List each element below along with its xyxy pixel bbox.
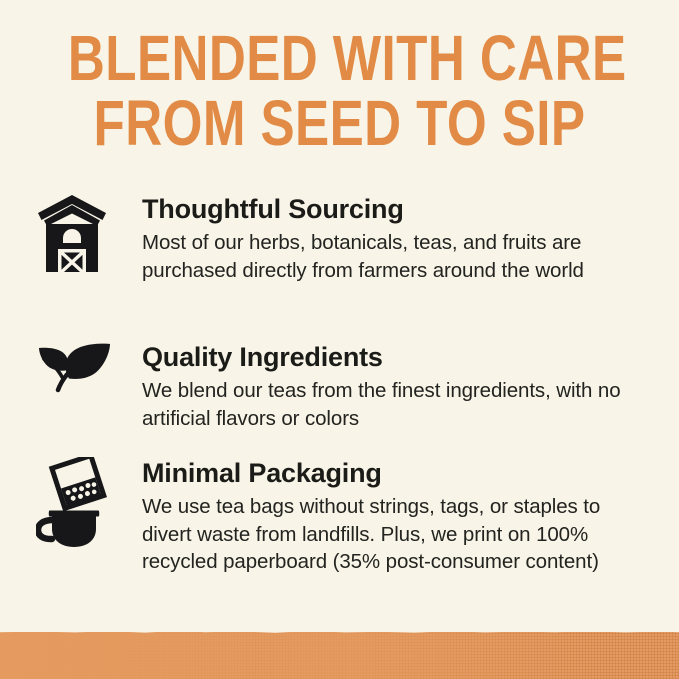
feature-title: Minimal Packaging xyxy=(142,458,650,489)
leaves-icon xyxy=(30,341,142,393)
feature-description: We use tea bags without strings, tags, o… xyxy=(142,493,617,576)
page-title: BLENDED WITH CARE FROM SEED TO SIP xyxy=(68,26,611,156)
feature-body: Quality Ingredients We blend our teas fr… xyxy=(142,341,650,432)
feature-quality-ingredients: Quality Ingredients We blend our teas fr… xyxy=(30,341,650,432)
feature-title: Thoughtful Sourcing xyxy=(142,194,650,225)
feature-minimal-packaging: Minimal Packaging We use tea bags withou… xyxy=(30,457,650,576)
feature-description: We blend our teas from the finest ingred… xyxy=(142,377,622,432)
infographic-page: BLENDED WITH CARE FROM SEED TO SIP Thoug… xyxy=(0,0,679,679)
page-title-line-1: BLENDED WITH CARE xyxy=(68,26,611,91)
feature-body: Thoughtful Sourcing Most of our herbs, b… xyxy=(142,193,650,284)
barn-icon xyxy=(30,193,142,273)
page-title-line-2: FROM SEED TO SIP xyxy=(68,91,611,156)
feature-body: Minimal Packaging We use tea bags withou… xyxy=(142,457,650,576)
burlap-texture xyxy=(0,632,679,679)
feature-title: Quality Ingredients xyxy=(142,342,650,373)
bottom-orange-band xyxy=(0,632,679,679)
torn-edge xyxy=(0,632,679,635)
feature-description: Most of our herbs, botanicals, teas, and… xyxy=(142,229,612,284)
feature-thoughtful-sourcing: Thoughtful Sourcing Most of our herbs, b… xyxy=(30,193,650,284)
teabag-mug-icon xyxy=(30,457,142,549)
